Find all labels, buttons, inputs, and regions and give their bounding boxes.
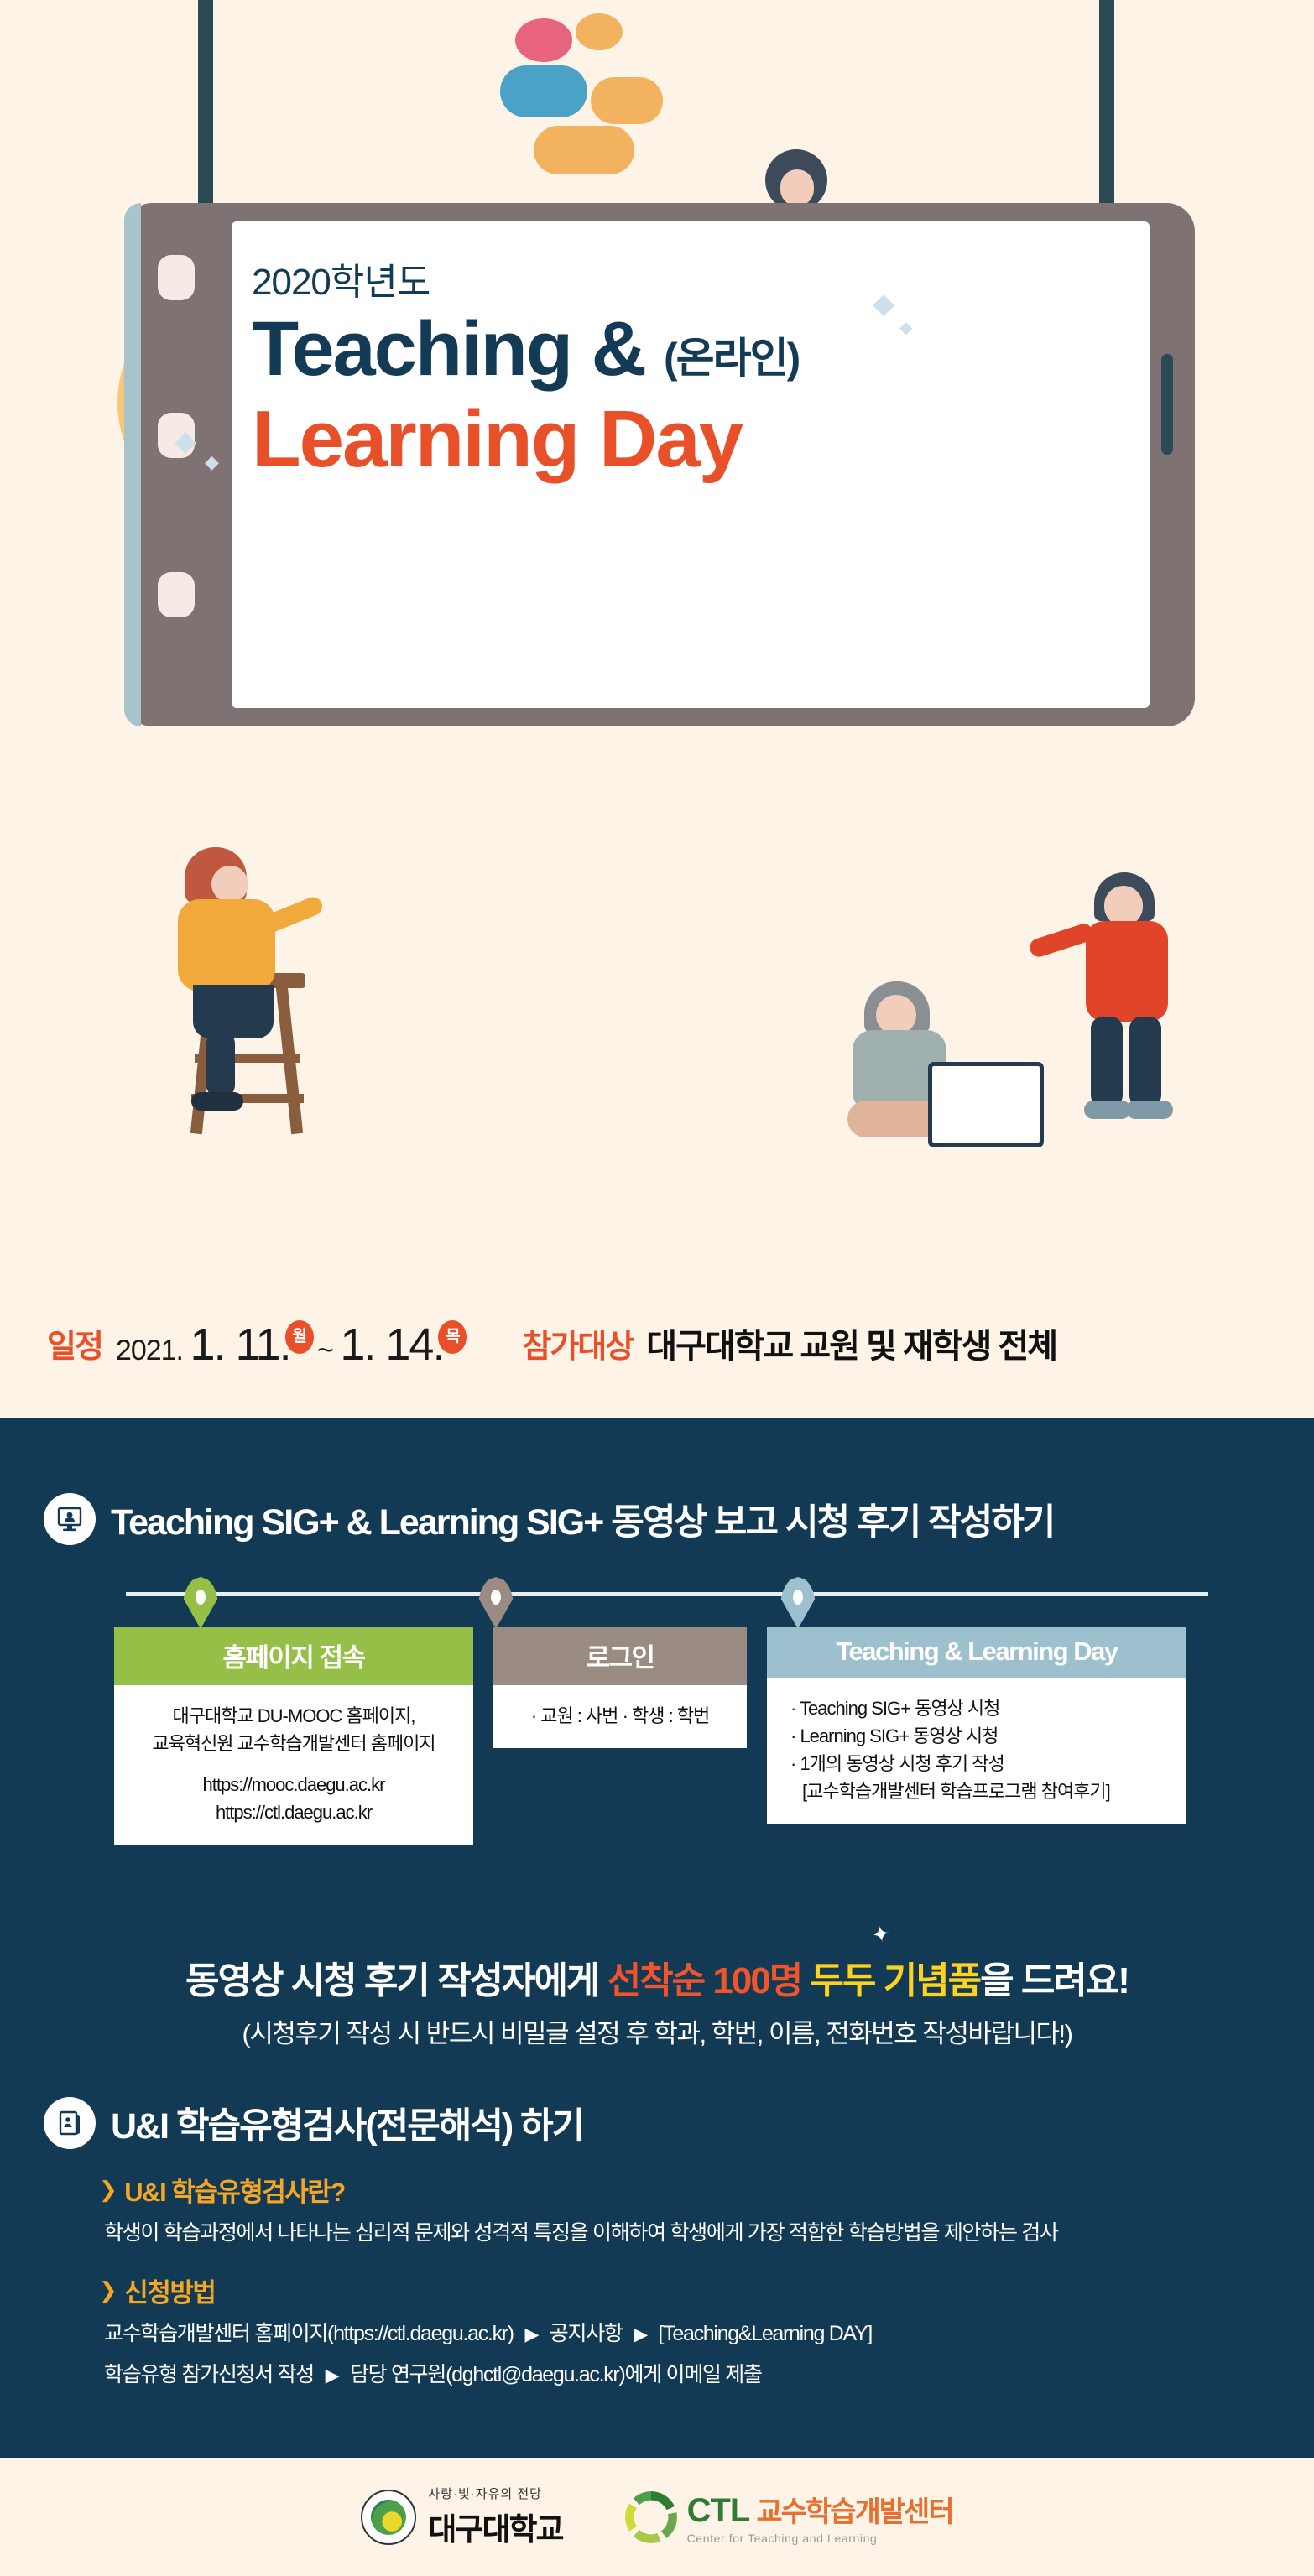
step-2-line-2: · 학생 : 학번 [623, 1702, 710, 1730]
step-card-tlday: Teaching & Learning Day · Teaching SIG+ … [767, 1627, 1186, 1824]
speech-bubble-blue [500, 65, 587, 117]
step-2-line-1: · 교원 : 사번 [531, 1702, 618, 1730]
step-1-line-2: 교육혁신원 교수학습개발센터 홈페이지 [126, 1730, 461, 1757]
gift-highlight-orange: 선착순 100명 [607, 1960, 802, 2001]
step-card-login: 로그인 · 교원 : 사번 · 학생 : 학번 [493, 1627, 747, 1748]
hero-title-block: ◆ ◆ ◆ ◆ 2020학년도 Teaching & (온라인) Learnin… [252, 252, 1091, 482]
section-2: U&I 학습유형검사(전문해석) 하기 ❯ U&I 학습유형검사란? 학생이 학… [0, 2097, 1314, 2391]
step-1-url-1[interactable]: https://mooc.daegu.ac.kr [126, 1771, 461, 1798]
timeline-line [126, 1592, 1208, 1596]
timeline-pin-2 [478, 1577, 514, 1629]
schedule-bar: 일정 2021. 1. 11.월 ~ 1. 14.목 참가대상 대구대학교 교원… [0, 1305, 1314, 1381]
ctl-ring-icon [625, 2491, 677, 2543]
chevron-right-icon-2: ❯ [99, 2277, 116, 2303]
university-name: 대구대학교 [428, 2504, 562, 2549]
subsection-2-heading: 신청방법 [124, 2272, 215, 2309]
speech-bubble-orange-large [534, 126, 634, 174]
section-1-header: Teaching SIG+ & Learning SIG+ 동영상 보고 시청 … [0, 1493, 1314, 1545]
apply-form-write: 학습유형 참가신청서 작성 [104, 2363, 314, 2386]
ctl-english-name: Center for Teaching and Learning [687, 2532, 953, 2545]
speech-bubble-orange [591, 77, 663, 124]
ctl-abbreviation: CTL [687, 2492, 750, 2530]
university-text-block: 사랑·빛·자유의 전당 대구대학교 [428, 2485, 562, 2549]
step-1-urls: https://mooc.daegu.ac.kr https://ctl.dae… [126, 1771, 461, 1826]
section-1-title: Teaching SIG+ & Learning SIG+ 동영상 보고 시청 … [111, 1493, 1054, 1545]
subsection-2-heading-row: ❯ 신청방법 [99, 2272, 1314, 2309]
gift-suffix: 을 드려요! [980, 1960, 1129, 2001]
illustration-person-standing [1082, 872, 1250, 1124]
apply-notice-menu: 공지사항 [550, 2322, 623, 2345]
schedule-end: 1. 14. [340, 1319, 443, 1370]
hero-title-line2: Learning Day [252, 398, 1091, 482]
ctl-korean-name: 교수학습개발센터 [756, 2489, 952, 2530]
schedule-value: 2021. 1. 11.월 ~ 1. 14.목 [116, 1319, 464, 1372]
step-3-line-2: · Learning SIG+ 동영상 시청 [790, 1722, 1175, 1750]
arrow-icon-3: ▶ [326, 2365, 339, 2386]
university-seal-icon [361, 2490, 416, 2545]
device-hole-3 [158, 572, 195, 617]
sparkle-icon-2: ◆ [899, 317, 1314, 338]
sparkle-icon-3: ◆ [175, 424, 196, 458]
timeline-pin-1 [183, 1577, 218, 1629]
footer-logos: 사랑·빛·자유의 전당 대구대학교 CTL 교수학습개발센터 Center fo… [0, 2458, 1314, 2576]
schedule-start: 1. 11. [190, 1319, 289, 1370]
gift-announcement: ✦ 동영상 시청 후기 작성자에게 선착순 100명 두두 기념품을 드려요! … [0, 1950, 1314, 2050]
gift-subnote: (시청후기 작성 시 반드시 비밀글 설정 후 학과, 학번, 이름, 전화번호… [0, 2012, 1314, 2050]
section-1: Teaching SIG+ & Learning SIG+ 동영상 보고 시청 … [0, 1493, 1314, 1545]
sparkle-icon-1: ◆ [873, 287, 1314, 320]
apply-step-line-1: 교수학습개발센터 홈페이지(https://ctl.daegu.ac.kr) ▶… [99, 2318, 1314, 2350]
university-tagline: 사랑·빛·자유의 전당 [428, 2485, 562, 2502]
steps-timeline [126, 1577, 1208, 1611]
arrow-icon-1: ▶ [524, 2324, 538, 2344]
subsection-1-heading-row: ❯ U&I 학습유형검사란? [99, 2171, 1314, 2209]
apply-email-submit[interactable]: 담당 연구원(dghctl@daegu.ac.kr)에게 이메일 제출 [350, 2363, 762, 2386]
section-2-header: U&I 학습유형검사(전문해석) 하기 [0, 2097, 1314, 2149]
subsection-1-heading: U&I 학습유형검사란? [124, 2171, 345, 2209]
device-right-bar [1161, 354, 1173, 455]
poster-root: ◆ ◆ ◆ ◆ 2020학년도 Teaching & (온라인) Learnin… [0, 0, 1314, 2576]
logo-ctl: CTL 교수학습개발센터 Center for Teaching and Lea… [625, 2489, 953, 2545]
presentation-icon [44, 1493, 96, 1545]
device-hole-1 [158, 255, 195, 300]
target-label: 참가대상 [522, 1320, 633, 1366]
hero-section: ◆ ◆ ◆ ◆ 2020학년도 Teaching & (온라인) Learnin… [0, 0, 1314, 1418]
apply-homepage-url[interactable]: 교수학습개발센터 홈페이지(https://ctl.daegu.ac.kr) [104, 2322, 514, 2345]
step-1-header: 홈페이지 접속 [114, 1627, 473, 1685]
schedule-tilde: ~ [317, 1335, 333, 1366]
ctl-name-row: CTL 교수학습개발센터 [687, 2489, 953, 2530]
step-2-header: 로그인 [493, 1627, 747, 1685]
schedule-start-day-badge: 월 [285, 1320, 314, 1354]
chevron-right-icon-1: ❯ [99, 2177, 116, 2203]
subsection-how-to-apply: ❯ 신청방법 교수학습개발센터 홈페이지(https://ctl.daegu.a… [0, 2272, 1314, 2391]
subsection-1-body: 학생이 학습과정에서 나타나는 심리적 문제와 성격적 특징을 이해하여 학생에… [99, 2217, 1314, 2250]
step-card-homepage: 홈페이지 접속 대구대학교 DU-MOOC 홈페이지, 교육혁신원 교수학습개발… [114, 1627, 473, 1845]
hero-title-line1: Teaching & [252, 310, 645, 388]
sparkle-icon-4: ◆ [205, 451, 219, 473]
illustration-person-writing [178, 847, 362, 1124]
timeline-pin-3 [780, 1577, 816, 1629]
step-2-body: · 교원 : 사번 · 학생 : 학번 [493, 1685, 747, 1748]
logo-daegu-university: 사랑·빛·자유의 전당 대구대학교 [361, 2485, 562, 2549]
speech-bubble-pink [515, 18, 572, 62]
ctl-text-block: CTL 교수학습개발센터 Center for Teaching and Lea… [687, 2489, 953, 2545]
step-3-note: [교수학습개발센터 학습프로그램 참여후기] [802, 1777, 1175, 1805]
arrow-icon-2: ▶ [634, 2324, 647, 2344]
gift-main-line: ✦ 동영상 시청 후기 작성자에게 선착순 100명 두두 기념품을 드려요! [185, 1950, 1129, 2004]
target-value: 대구대학교 교원 및 재학생 전체 [646, 1319, 1056, 1367]
step-3-header: Teaching & Learning Day [767, 1627, 1186, 1678]
hero-online-tag: (온라인) [664, 337, 799, 388]
schedule-year: 2021. [116, 1335, 183, 1366]
apply-step-line-2: 학습유형 참가신청서 작성 ▶ 담당 연구원(dghctl@daegu.ac.k… [99, 2359, 1314, 2391]
step-3-body: · Teaching SIG+ 동영상 시청 · Learning SIG+ 동… [767, 1678, 1186, 1824]
gift-highlight-yellow: 두두 기념품 [811, 1960, 981, 2001]
schedule-end-day-badge: 목 [438, 1320, 467, 1354]
speech-bubble-orange-small [576, 13, 623, 50]
step-3-line-1: · Teaching SIG+ 동영상 시청 [790, 1694, 1175, 1722]
subsection-what-is-uni: ❯ U&I 학습유형검사란? 학생이 학습과정에서 나타나는 심리적 문제와 성… [0, 2171, 1314, 2250]
step-3-line-3: · 1개의 동영상 시청 후기 작성 [790, 1750, 1175, 1777]
section-2-title: U&I 학습유형검사(전문해석) 하기 [111, 2097, 583, 2149]
device-sidebar [124, 203, 141, 726]
book-test-icon [44, 2097, 96, 2149]
schedule-label: 일정 [47, 1320, 102, 1366]
step-1-body: 대구대학교 DU-MOOC 홈페이지, 교육혁신원 교수학습개발센터 홈페이지 … [114, 1685, 473, 1845]
gift-prefix: 동영상 시청 후기 작성자에게 [185, 1960, 607, 2001]
step-1-line-1: 대구대학교 DU-MOOC 홈페이지, [126, 1702, 461, 1730]
steps-cards: 홈페이지 접속 대구대학교 DU-MOOC 홈페이지, 교육혁신원 교수학습개발… [114, 1627, 1205, 1845]
illustration-person-tablet [847, 981, 1049, 1149]
apply-post-title: [Teaching&Learning DAY] [659, 2322, 873, 2345]
step-1-url-2[interactable]: https://ctl.daegu.ac.kr [126, 1798, 461, 1826]
